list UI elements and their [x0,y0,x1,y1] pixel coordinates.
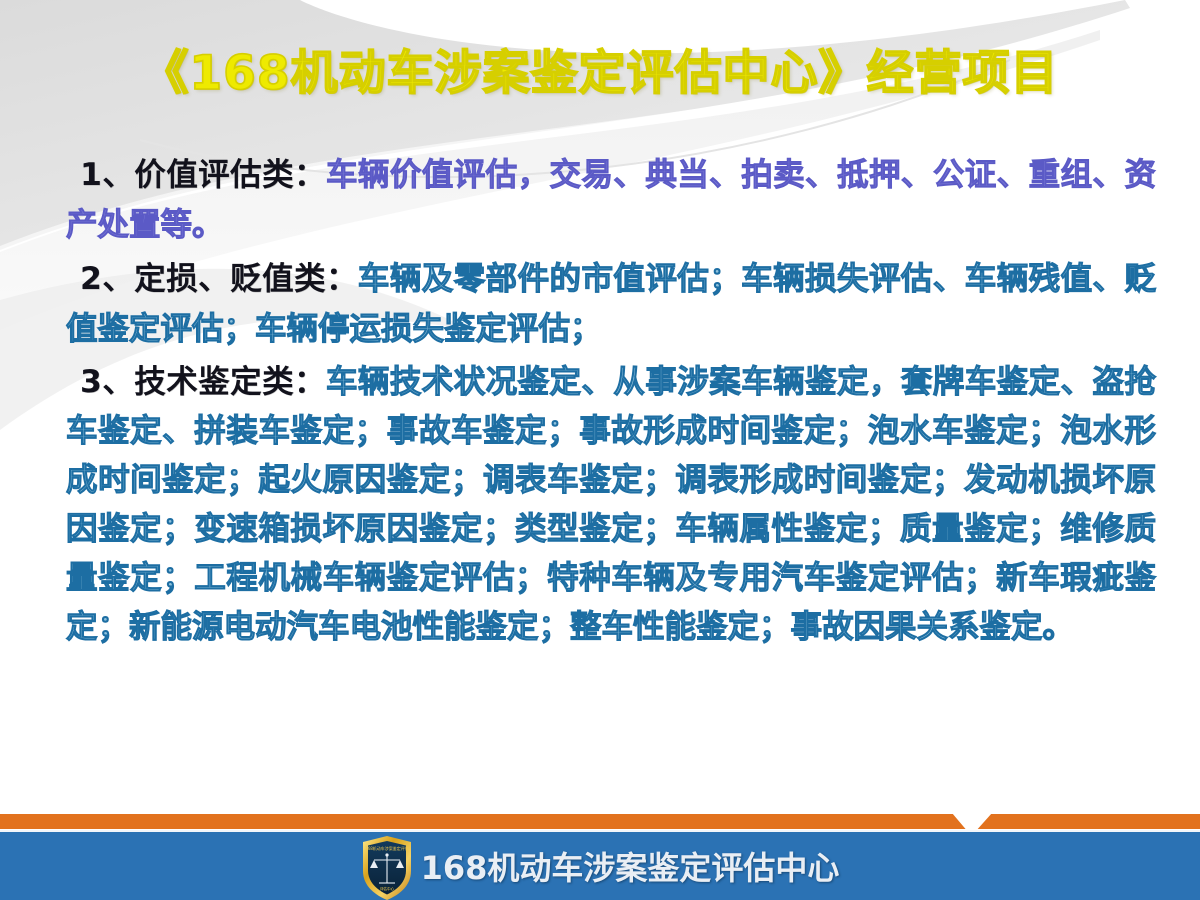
footer-orange-bar [0,814,1200,829]
list-item-label: 1、价值评估类： [80,157,326,193]
list-item-paragraph: 2、定损、贬值类：车辆及零部件的市值评估；车辆损失评估、车辆残值、贬值鉴定评估；… [66,254,1156,354]
badge-top-text: 168机动车涉案鉴定评估 [365,845,409,851]
list-item-paragraph: 3、技术鉴定类：车辆技术状况鉴定、从事涉案车辆鉴定，套牌车鉴定、盗抢车鉴定、拼装… [66,358,1156,652]
list-item: 2、定损、贬值类：车辆及零部件的市值评估；车辆损失评估、车辆残值、贬值鉴定评估；… [66,254,1156,354]
list-item: 1、价值评估类：车辆价值评估，交易、典当、拍卖、抵押、公证、重组、资产处置等。 [66,150,1156,250]
content-list: 1、价值评估类：车辆价值评估，交易、典当、拍卖、抵押、公证、重组、资产处置等。 … [66,150,1156,656]
footer-brand-text: 168机动车涉案鉴定评估中心 [421,843,840,889]
list-item-label: 2、定损、贬值类： [80,261,358,297]
list-item: 3、技术鉴定类：车辆技术状况鉴定、从事涉案车辆鉴定，套牌车鉴定、盗抢车鉴定、拼装… [66,358,1156,652]
presentation-slide: 《168机动车涉案鉴定评估中心》经营项目 1、价值评估类：车辆价值评估，交易、典… [0,0,1200,900]
scales-of-justice-shield-badge-icon: 168机动车涉案鉴定评估 评估中心 [361,835,413,900]
badge-bottom-text: 评估中心 [379,886,394,891]
list-item-label: 3、技术鉴定类： [80,364,326,400]
footer-brand: 168机动车涉案鉴定评估 评估中心 168机动车涉案鉴定评估中心 [0,832,1200,900]
list-item-paragraph: 1、价值评估类：车辆价值评估，交易、典当、拍卖、抵押、公证、重组、资产处置等。 [66,150,1156,250]
page-title: 《168机动车涉案鉴定评估中心》经营项目 [141,34,1058,103]
slide-title-container: 《168机动车涉案鉴定评估中心》经营项目 [0,34,1200,103]
list-item-body: 车辆技术状况鉴定、从事涉案车辆鉴定，套牌车鉴定、盗抢车鉴定、拼装车鉴定；事故车鉴… [66,364,1156,645]
slide-footer: 168机动车涉案鉴定评估 评估中心 168机动车涉案鉴定评估中心 [0,800,1200,900]
